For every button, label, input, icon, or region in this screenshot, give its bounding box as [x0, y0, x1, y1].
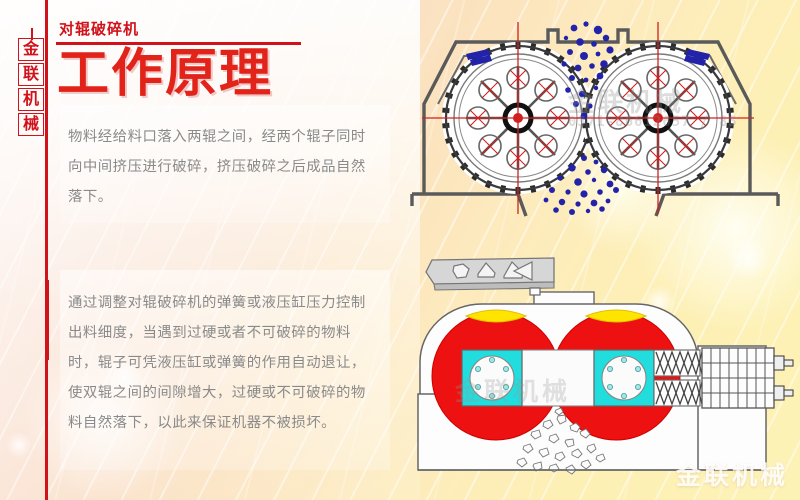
- logo-tick: [31, 28, 33, 40]
- logo-char-4: 械: [18, 113, 44, 136]
- crusher-structure-diagram: [404, 236, 796, 492]
- paragraph-first: 物料经给料口落入两辊之间，经两个辊子同时向中间挤压进行破碎，挤压破碎之后成品自然…: [68, 122, 380, 212]
- header-kicker: 对辊破碎机: [59, 18, 139, 39]
- paragraph-2-accent-bar: [45, 280, 49, 360]
- feed-chute: [426, 258, 554, 290]
- brand-logo: 金 联 机 械: [18, 38, 44, 138]
- logo-char-2: 联: [18, 63, 44, 86]
- paragraph-second: 通过调整对辊破碎机的弹簧或液压缸压力控制出料细度，当遇到过硬或者不可破碎的物料时…: [68, 288, 380, 438]
- page-title: 工作原理: [57, 45, 273, 103]
- logo-char-3: 机: [18, 88, 44, 111]
- infographic-canvas: 金 联 机 械 对辊破碎机 工作原理 物料经给料口落入两辊之间，经两个辊子同时向…: [0, 0, 800, 500]
- bearing-left: [462, 350, 522, 406]
- crusher-cross-section-diagram: [408, 8, 796, 230]
- logo-char-1: 金: [18, 38, 44, 61]
- bearing-right: [594, 350, 654, 406]
- left-vertical-rule: [45, 0, 48, 500]
